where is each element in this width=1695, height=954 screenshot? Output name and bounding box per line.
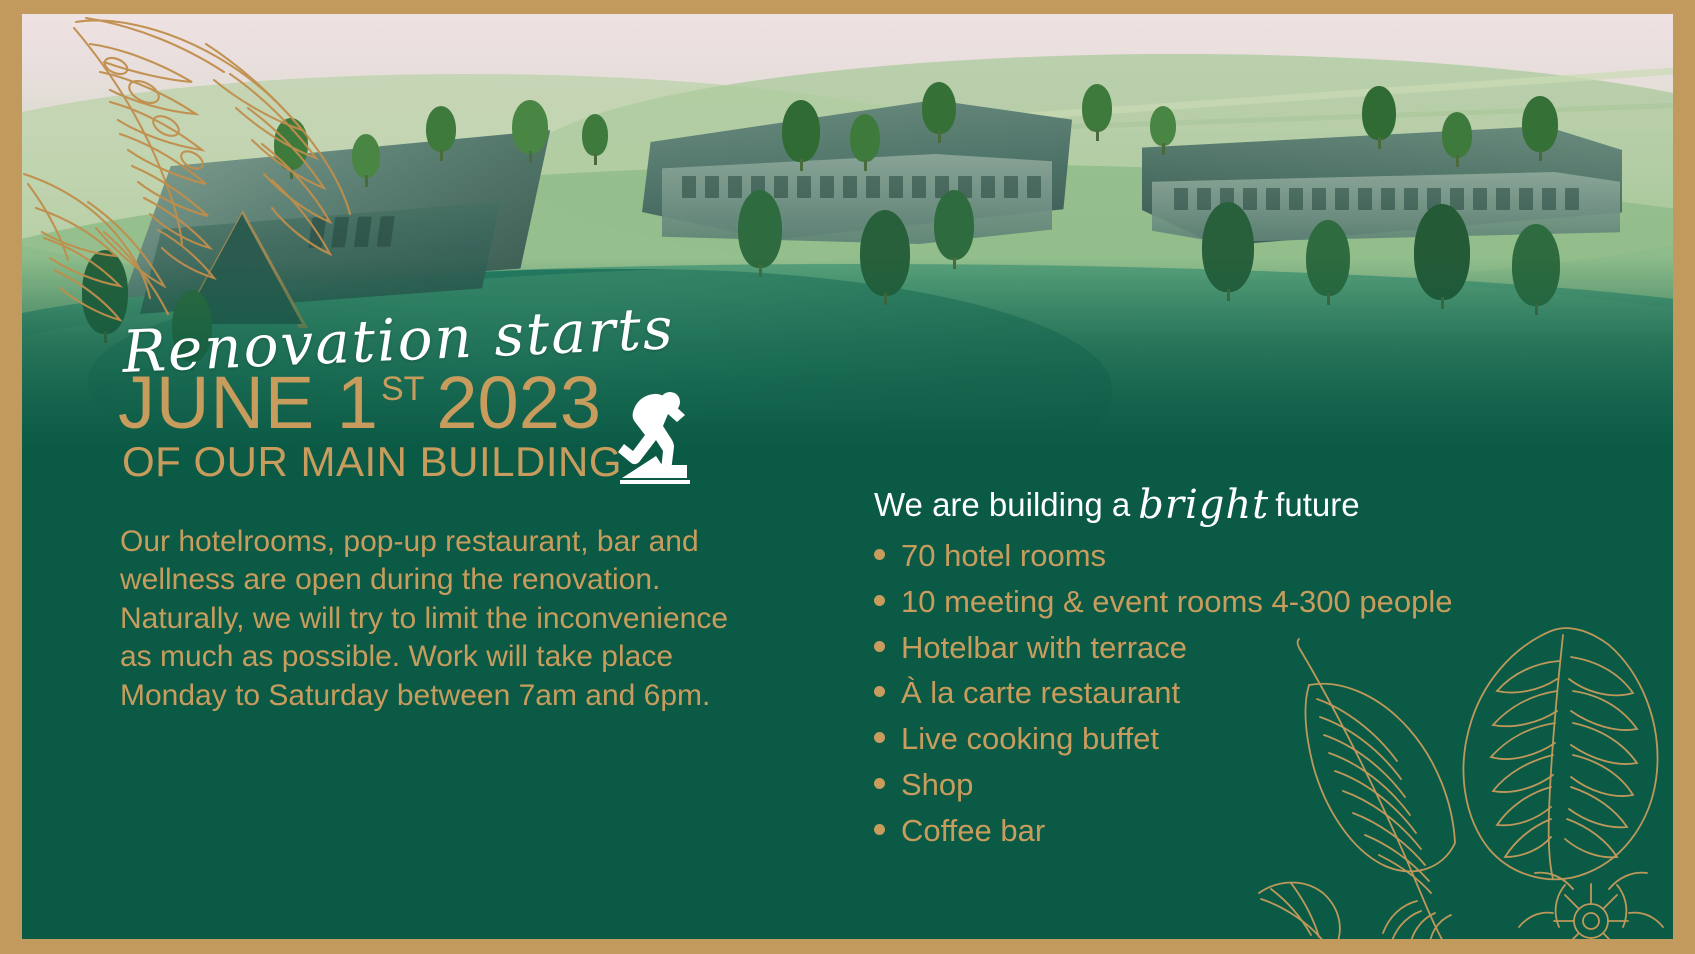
list-item: Coffee bar: [874, 812, 1574, 851]
features-heading-suffix: future: [1275, 485, 1359, 525]
list-item: Shop: [874, 766, 1574, 805]
features-heading-script-word: bright: [1138, 481, 1269, 529]
list-item-label: 70 hotel rooms: [901, 537, 1106, 576]
paragraph-line: Monday to Saturday between 7am and 6pm.: [120, 677, 820, 715]
list-item: 10 meeting & event rooms 4-300 people: [874, 583, 1574, 622]
list-item-label: À la carte restaurant: [901, 674, 1180, 713]
features-heading: We are building a bright future: [874, 479, 1574, 527]
list-item: 70 hotel rooms: [874, 537, 1574, 576]
renovation-info-paragraph: Our hotelrooms, pop-up restaurant, bar a…: [120, 523, 820, 715]
poster-canvas: Renovation starts JUNE 1 ST 2023 OF OUR …: [22, 14, 1673, 939]
renovation-announcement-poster: Renovation starts JUNE 1 ST 2023 OF OUR …: [0, 0, 1695, 954]
list-item: Hotelbar with terrace: [874, 629, 1574, 668]
paragraph-line: Our hotelrooms, pop-up restaurant, bar a…: [120, 523, 820, 561]
renovation-date: JUNE 1 ST 2023: [118, 366, 601, 440]
date-ordinal-suffix: ST: [381, 372, 424, 406]
paragraph-line: wellness are open during the renovation.: [120, 561, 820, 599]
list-item: Live cooking buffet: [874, 720, 1574, 759]
list-item-label: 10 meeting & event rooms 4-300 people: [901, 583, 1452, 622]
features-list: 70 hotel rooms 10 meeting & event rooms …: [874, 537, 1574, 850]
list-item: À la carte restaurant: [874, 674, 1574, 713]
list-item-label: Live cooking buffet: [901, 720, 1159, 759]
list-item-label: Coffee bar: [901, 812, 1045, 851]
bullet-dot-icon: [874, 778, 885, 789]
list-item-label: Hotelbar with terrace: [901, 629, 1187, 668]
bullet-dot-icon: [874, 595, 885, 606]
paragraph-line: as much as possible. Work will take plac…: [120, 638, 820, 676]
paragraph-line: Naturally, we will try to limit the inco…: [120, 600, 820, 638]
features-heading-prefix: We are building a: [874, 485, 1130, 525]
list-item-label: Shop: [901, 766, 973, 805]
hero-subtitle: OF OUR MAIN BUILDING: [122, 438, 622, 486]
date-year-text: 2023: [436, 366, 601, 440]
bullet-dot-icon: [874, 686, 885, 697]
bullet-dot-icon: [874, 732, 885, 743]
features-column: We are building a bright future 70 hotel…: [874, 479, 1574, 857]
bullet-dot-icon: [874, 641, 885, 652]
bullet-dot-icon: [874, 824, 885, 835]
date-main-text: JUNE 1: [118, 366, 379, 440]
bullet-dot-icon: [874, 549, 885, 560]
construction-worker-icon: [596, 386, 692, 484]
